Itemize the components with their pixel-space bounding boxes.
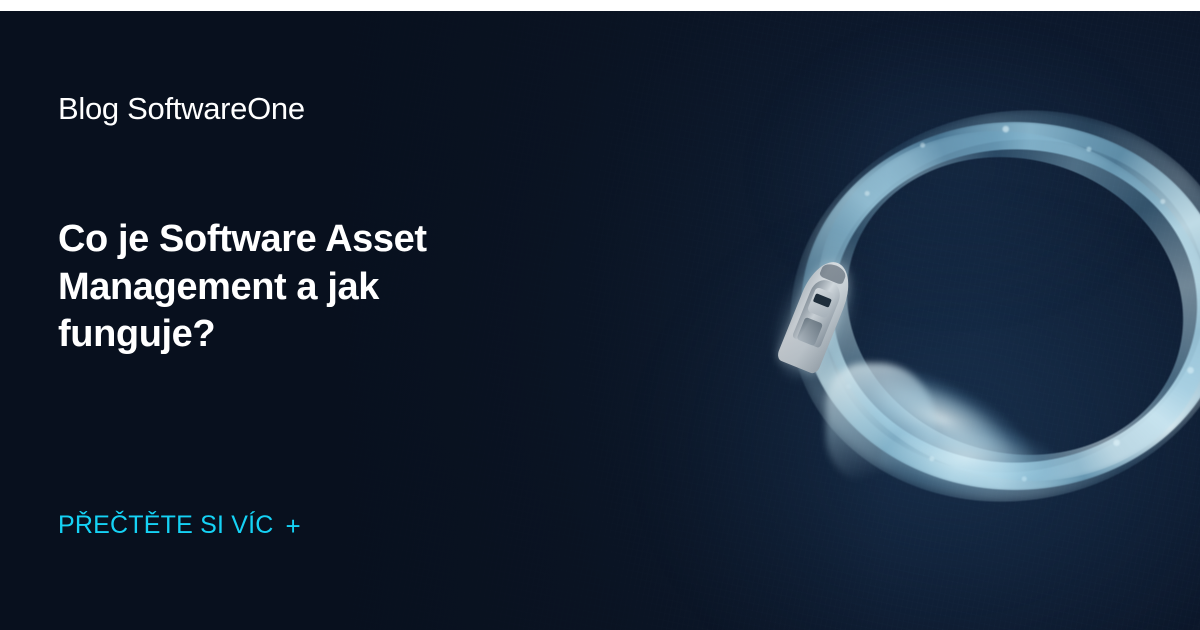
- page-title: Co je Software Asset Management a jak fu…: [58, 216, 528, 357]
- read-more-label: PŘEČTĚTE SI VÍC: [58, 511, 274, 540]
- brand-kicker: Blog SoftwareOne: [58, 91, 305, 127]
- top-accent-band: [0, 0, 1200, 11]
- blog-social-card: Blog SoftwareOne Co je Software Asset Ma…: [0, 0, 1200, 630]
- read-more-link[interactable]: PŘEČTĚTE SI VÍC +: [58, 511, 301, 540]
- card-content: Blog SoftwareOne Co je Software Asset Ma…: [0, 11, 1200, 630]
- plus-icon: +: [286, 513, 301, 539]
